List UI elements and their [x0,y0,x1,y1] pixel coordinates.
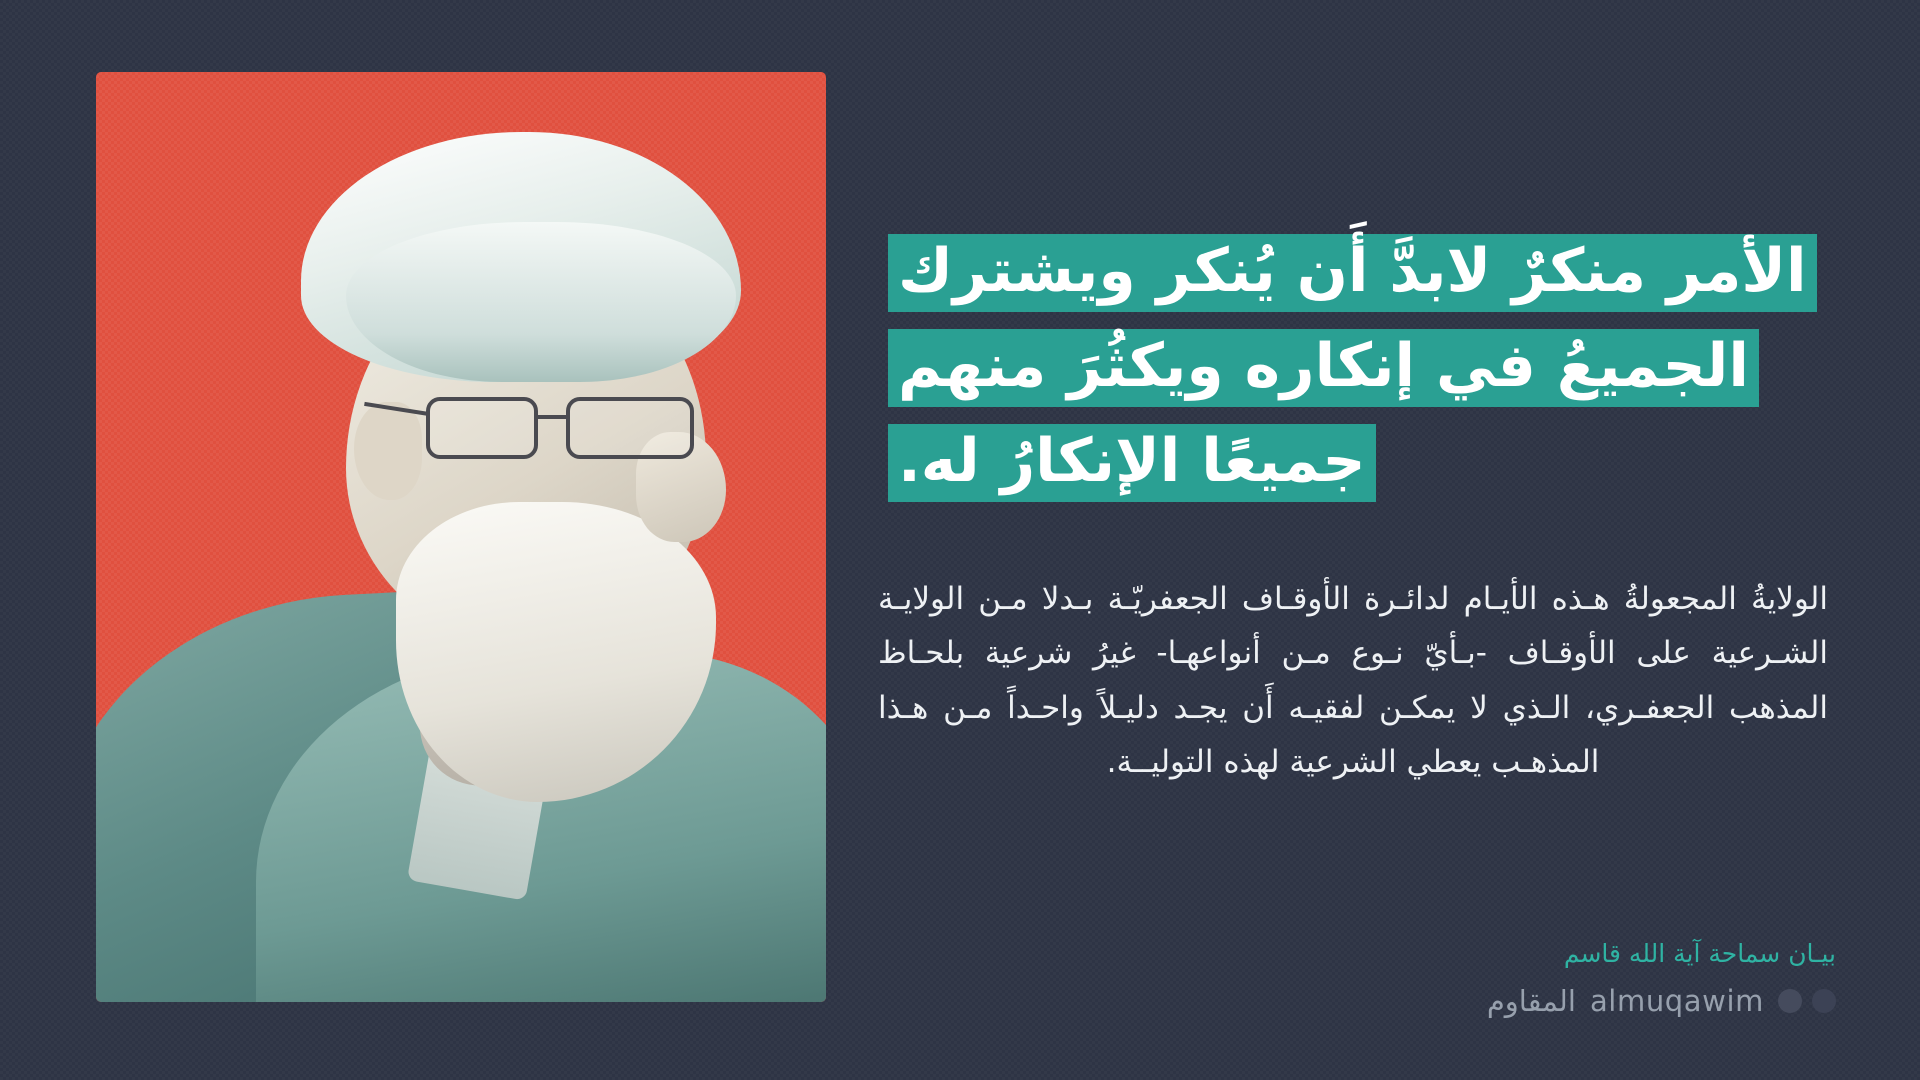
glasses-lens-right [566,397,694,459]
headline-line-3-text: جميعًا الإنكارُ له. [888,424,1376,502]
statement-caption: بيـان سماحة آية الله قاسم [1487,939,1836,968]
brand-row: almuqawim المقاوم [1487,984,1836,1018]
body-paragraph: الولايةُ المجعولةُ هـذه الأيـام لدائـرة … [878,572,1828,789]
brand-name-latin: almuqawim [1590,984,1764,1018]
portrait-ear [354,402,422,500]
headline-line-1-text: الأمر منكرٌ لابدَّ أَن يُنكر ويشترك [888,234,1817,312]
brand-dot-2 [1778,989,1802,1013]
glasses-bridge [536,415,570,419]
text-column: الأمر منكرٌ لابدَّ أَن يُنكر ويشترك الجم… [840,0,1920,1080]
headline-line-3: جميعًا الإنكارُ له. [888,422,1828,501]
headline-line-2: الجميعُ في إنكاره ويكثُرَ منهم [888,327,1828,406]
brand-name-arabic: المقاوم [1487,984,1576,1018]
headline-block: الأمر منكرٌ لابدَّ أَن يُنكر ويشترك الجم… [888,232,1828,518]
portrait-photo-panel [96,72,826,1002]
brand-logo-dots-icon [1778,989,1836,1013]
poster-canvas: الأمر منكرٌ لابدَّ أَن يُنكر ويشترك الجم… [0,0,1920,1080]
portrait-turban-band [346,222,736,382]
portrait-glasses [426,397,716,463]
brand-dot-1 [1812,989,1836,1013]
portrait-illustration [96,72,826,1002]
headline-line-1: الأمر منكرٌ لابدَّ أَن يُنكر ويشترك [888,232,1828,311]
footer-block: بيـان سماحة آية الله قاسم almuqawim المق… [1487,939,1836,1018]
glasses-lens-left [426,397,538,459]
headline-line-2-text: الجميعُ في إنكاره ويكثُرَ منهم [888,329,1759,407]
